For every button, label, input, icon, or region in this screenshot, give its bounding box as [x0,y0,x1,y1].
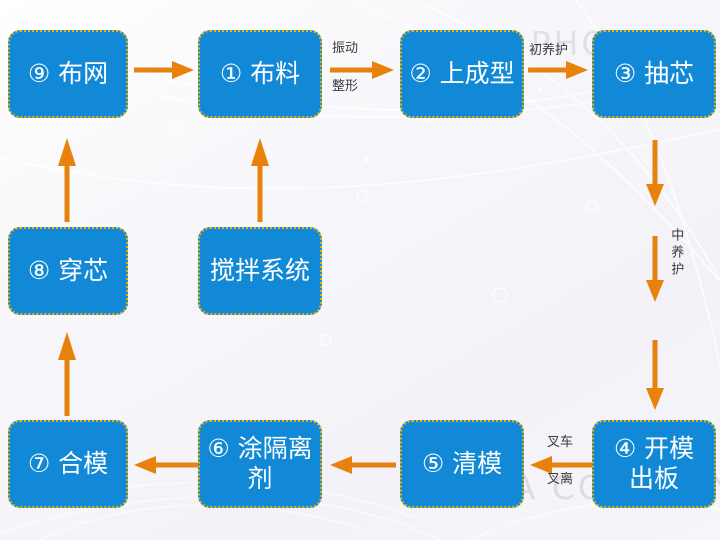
arrow-buliao-to-shangchengxing [330,60,396,80]
flowchart-canvas: NEWS PHOTO MANA COMPANY 振动 整形 初养护 [0,0,720,540]
node-jiaobanxitong-label: 搅拌系统 [206,256,314,287]
node-buliao[interactable]: ① 布料 [198,30,322,118]
edge-label-initial-cure: 初养护 [529,44,568,58]
arrow-shangchengxing-to-chouxin [528,60,590,80]
node-qingmo[interactable]: ⑤ 清模 [400,420,524,508]
arrow-tugeliji-to-hemo [132,455,200,475]
node-kaimochuban-line1: ④ 开模 [614,434,694,463]
edge-label-vibrate-line2: 整形 [332,80,358,94]
arrow-hemo-to-chuanxin [56,330,78,416]
node-chuanxin-label: ⑧ 穿芯 [16,256,120,287]
node-hemo-label: ⑦ 合模 [16,449,120,480]
node-tugeliji-label: ⑥ 涂隔离 剂 [206,434,314,495]
edge-label-forklift-top: 叉车 [547,436,573,450]
node-kaimochuban-label: ④ 开模 出板 [600,434,708,495]
node-chouxin-label: ③ 抽芯 [600,59,708,90]
edge-label-vibrate-line1: 振动 [332,42,358,56]
node-bunwang[interactable]: ⑨ 布网 [8,30,128,118]
arrow-chouxin-down-2 [644,236,666,304]
node-tugeliji-line1: ⑥ 涂隔离 [207,434,312,463]
arrow-jiaobanxitong-to-buliao [249,136,271,222]
node-hemo[interactable]: ⑦ 合模 [8,420,128,508]
edge-label-mid-cure: 中养护 [668,228,682,279]
arrow-chuanxin-to-bunwang [56,136,78,222]
node-qingmo-label: ⑤ 清模 [408,449,516,480]
arrow-down-to-kaimo [644,340,666,412]
node-bunwang-label: ⑨ 布网 [16,59,120,90]
node-chuanxin[interactable]: ⑧ 穿芯 [8,227,128,315]
node-shangchengxing[interactable]: ② 上成型 [400,30,524,118]
node-jiaobanxitong[interactable]: 搅拌系统 [198,227,322,315]
node-kaimochuban[interactable]: ④ 开模 出板 [592,420,716,508]
node-shangchengxing-label: ② 上成型 [408,59,516,90]
node-chouxin[interactable]: ③ 抽芯 [592,30,716,118]
node-tugeliji-line2: 剂 [247,464,272,493]
arrow-qingmo-to-tugeliji [328,455,396,475]
node-kaimochuban-line2: 出板 [629,464,679,493]
node-tugeliji[interactable]: ⑥ 涂隔离 剂 [198,420,322,508]
edge-label-forklift-bottom: 叉离 [547,473,573,487]
arrow-bunwang-to-buliao [134,60,196,80]
arrow-chouxin-down-1 [644,140,666,208]
node-buliao-label: ① 布料 [206,59,314,90]
